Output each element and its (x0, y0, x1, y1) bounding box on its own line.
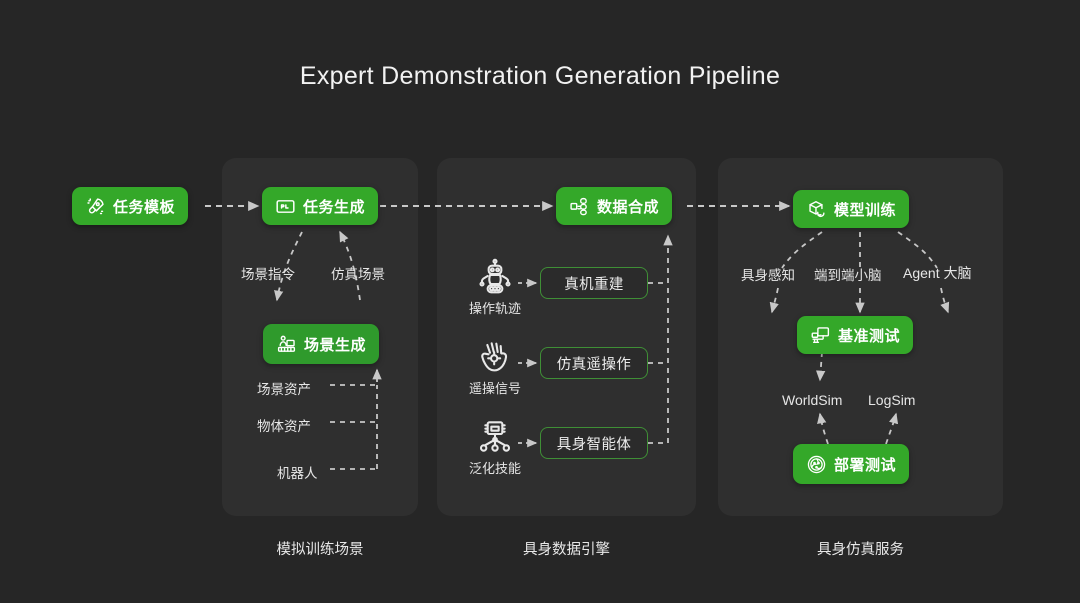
node-task-generation[interactable]: 任务生成 (262, 187, 378, 225)
node-label: 具身智能体 (557, 433, 632, 454)
data-sync-icon (569, 196, 590, 217)
node-task-template[interactable]: 任务模板 (72, 187, 188, 225)
node-scene-generation[interactable]: 场景生成 (263, 324, 379, 364)
edge-label-end-to-end-cerebellum: 端到端小脑 (814, 264, 882, 284)
panel-caption-embodied-data-engine: 具身数据引擎 (437, 538, 696, 559)
input-label-object-assets: 物体资产 (257, 415, 311, 435)
edge-label-worldsim: WorldSim (782, 392, 842, 408)
node-real-machine-reconstruction[interactable]: 真机重建 (540, 267, 648, 299)
input-teleop-signal: 遥操信号 (464, 338, 526, 398)
chip-network-icon (475, 418, 515, 458)
edge-label-embodied-perception: 具身感知 (741, 264, 795, 284)
node-label: 仿真遥操作 (557, 353, 632, 374)
edge-label-agent-brain: Agent 大脑 (903, 263, 971, 283)
node-data-synthesis[interactable]: 数据合成 (556, 187, 672, 225)
node-label: 真机重建 (564, 273, 624, 294)
input-generalization-skill: 泛化技能 (464, 418, 526, 478)
frame-icon (275, 196, 296, 217)
operator-icon (276, 334, 297, 355)
input-operation-trajectory: 操作轨迹 (464, 258, 526, 318)
node-embodied-agent[interactable]: 具身智能体 (540, 427, 648, 459)
node-deployment-test[interactable]: 部署测试 (793, 444, 909, 484)
input-label-robot: 机器人 (277, 462, 318, 482)
node-label: 任务生成 (303, 196, 365, 217)
panel-caption-embodied-simulation-service: 具身仿真服务 (718, 538, 1003, 559)
node-simulated-teleoperation[interactable]: 仿真遥操作 (540, 347, 648, 379)
panel-caption-simulation-training-scene: 模拟训练场景 (222, 538, 418, 559)
node-label: 模型训练 (834, 199, 896, 220)
input-label-scene-assets: 场景资产 (257, 378, 311, 398)
glove-icon (475, 338, 515, 378)
node-label: 基准测试 (838, 325, 900, 346)
icon-caption: 操作轨迹 (469, 301, 521, 316)
node-label: 任务模板 (113, 196, 175, 217)
node-label: 部署测试 (834, 454, 896, 475)
pipeline-diagram: Expert Demonstration Generation Pipeline (0, 0, 1080, 603)
edge-label-logsim: LogSim (868, 392, 915, 408)
cube-refresh-icon (806, 199, 827, 220)
icon-caption: 泛化技能 (469, 461, 521, 476)
rocket-icon (85, 196, 106, 217)
benchmark-icon (810, 325, 831, 346)
node-benchmark-test[interactable]: 基准测试 (797, 316, 913, 354)
deploy-icon (806, 454, 827, 475)
edge-label-simulation-scene: 仿真场景 (331, 263, 385, 283)
edge-label-scene-instruction: 场景指令 (241, 263, 295, 283)
node-model-training[interactable]: 模型训练 (793, 190, 909, 228)
icon-caption: 遥操信号 (469, 381, 521, 396)
node-label: 场景生成 (304, 334, 366, 355)
node-label: 数据合成 (597, 196, 659, 217)
robot-icon (475, 258, 515, 298)
page-title: Expert Demonstration Generation Pipeline (0, 62, 1080, 91)
